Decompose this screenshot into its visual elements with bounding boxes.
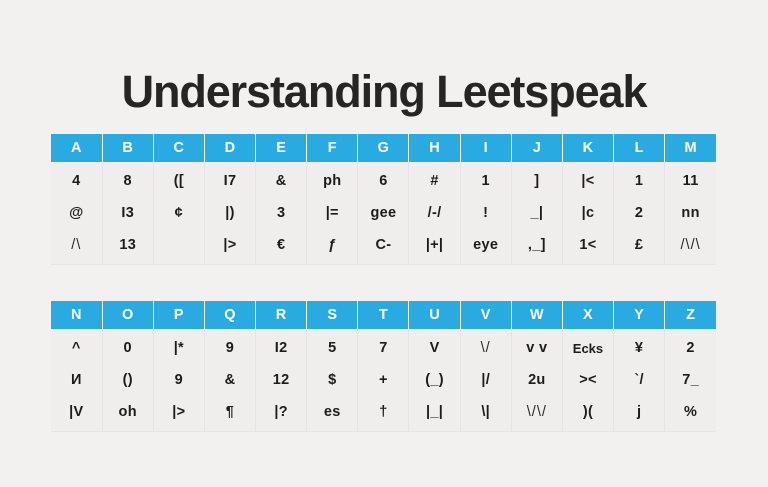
leet-cell-h-3: |+|	[409, 230, 460, 264]
leet-cell-b-1: 8	[102, 162, 153, 196]
leet-cell-u-2: (_)	[409, 363, 460, 397]
column-header-o: O	[102, 301, 153, 329]
leet-cell-n-2: И	[51, 363, 102, 397]
leet-cell-c-2: ¢	[153, 196, 204, 230]
leet-cell-e-3: €	[256, 230, 307, 264]
leet-cell-l-2: 2	[614, 196, 665, 230]
leet-cell-v-1: \/	[460, 329, 511, 363]
column-header-i: I	[460, 134, 511, 162]
leet-cell-u-3: |_|	[409, 397, 460, 431]
leet-cell-z-3: %	[665, 397, 716, 431]
leet-cell-t-1: 7	[358, 329, 409, 363]
leet-cell-w-2: 2u	[511, 363, 562, 397]
column-header-x: X	[562, 301, 613, 329]
column-header-v: V	[460, 301, 511, 329]
leet-cell-v-3: \|	[460, 397, 511, 431]
leet-cell-h-2: /-/	[409, 196, 460, 230]
leetspeak-table-n-z: NOPQRSTUVWXYZ ^0|*9I257V\/v vEcks¥2И()9&…	[51, 301, 716, 432]
column-header-y: Y	[614, 301, 665, 329]
leet-cell-d-1: I7	[204, 162, 255, 196]
column-header-m: M	[665, 134, 716, 162]
leet-cell-m-2: nn	[665, 196, 716, 230]
leet-cell-o-3: oh	[102, 397, 153, 431]
leet-cell-j-3: ,_]	[511, 230, 562, 264]
column-header-p: P	[153, 301, 204, 329]
table-header-n-z: NOPQRSTUVWXYZ	[51, 301, 716, 329]
leet-cell-g-1: 6	[358, 162, 409, 196]
page-title: Understanding Leetspeak	[0, 66, 768, 118]
leet-cell-y-1: ¥	[614, 329, 665, 363]
table-row: И()9&12$+(_)|/2u><`/7_	[51, 363, 716, 397]
column-header-g: G	[358, 134, 409, 162]
column-header-b: B	[102, 134, 153, 162]
leet-cell-i-1: 1	[460, 162, 511, 196]
leet-cell-v-2: |/	[460, 363, 511, 397]
leet-cell-k-1: |<	[562, 162, 613, 196]
leet-cell-m-1: 11	[665, 162, 716, 196]
leet-cell-t-3: †	[358, 397, 409, 431]
leet-cell-i-3: eye	[460, 230, 511, 264]
leet-cell-i-2: !	[460, 196, 511, 230]
leet-cell-q-3: ¶	[204, 397, 255, 431]
column-header-d: D	[204, 134, 255, 162]
leet-cell-z-1: 2	[665, 329, 716, 363]
leet-cell-r-3: |?	[256, 397, 307, 431]
table-row: @I3¢|)3|=gee/-/!_||c2nn	[51, 196, 716, 230]
leet-cell-y-2: `/	[614, 363, 665, 397]
header-row: NOPQRSTUVWXYZ	[51, 301, 716, 329]
leet-cell-p-3: |>	[153, 397, 204, 431]
leet-cell-b-3: 13	[102, 230, 153, 264]
leet-cell-p-2: 9	[153, 363, 204, 397]
column-header-l: L	[614, 134, 665, 162]
column-header-z: Z	[665, 301, 716, 329]
column-header-e: E	[256, 134, 307, 162]
leet-cell-y-3: j	[614, 397, 665, 431]
column-header-r: R	[256, 301, 307, 329]
leet-cell-s-3: es	[307, 397, 358, 431]
column-header-t: T	[358, 301, 409, 329]
column-header-s: S	[307, 301, 358, 329]
leet-cell-m-3: /\/\	[665, 230, 716, 264]
leet-cell-l-3: £	[614, 230, 665, 264]
leetspeak-table-a-m: ABCDEFGHIJKLM 48([I7&ph6#1]|<111@I3¢|)3|…	[51, 134, 716, 265]
leet-cell-d-2: |)	[204, 196, 255, 230]
leet-cell-k-3: 1<	[562, 230, 613, 264]
leet-cell-r-1: I2	[256, 329, 307, 363]
column-header-h: H	[409, 134, 460, 162]
leet-cell-b-2: I3	[102, 196, 153, 230]
leet-cell-q-1: 9	[204, 329, 255, 363]
leet-cell-e-1: &	[256, 162, 307, 196]
leet-cell-j-1: ]	[511, 162, 562, 196]
column-header-j: J	[511, 134, 562, 162]
table-row: |Voh|>¶|?es†|_|\|\/\/)(j%	[51, 397, 716, 431]
leet-cell-k-2: |c	[562, 196, 613, 230]
leet-cell-t-2: +	[358, 363, 409, 397]
leet-cell-o-1: 0	[102, 329, 153, 363]
leet-cell-f-1: ph	[307, 162, 358, 196]
table-row: ^0|*9I257V\/v vEcks¥2	[51, 329, 716, 363]
leet-cell-l-1: 1	[614, 162, 665, 196]
column-header-f: F	[307, 134, 358, 162]
leet-cell-g-3: C-	[358, 230, 409, 264]
leet-cell-a-2: @	[51, 196, 102, 230]
leet-cell-w-1: v v	[511, 329, 562, 363]
leet-cell-s-1: 5	[307, 329, 358, 363]
leet-cell-x-2: ><	[562, 363, 613, 397]
column-header-w: W	[511, 301, 562, 329]
column-header-k: K	[562, 134, 613, 162]
leet-cell-a-3: /\	[51, 230, 102, 264]
leet-cell-o-2: ()	[102, 363, 153, 397]
column-header-u: U	[409, 301, 460, 329]
column-header-n: N	[51, 301, 102, 329]
leet-cell-x-3: )(	[562, 397, 613, 431]
leet-cell-f-3: ƒ	[307, 230, 358, 264]
leet-cell-n-3: |V	[51, 397, 102, 431]
leet-cell-w-3: \/\/	[511, 397, 562, 431]
leet-cell-h-1: #	[409, 162, 460, 196]
leet-cell-g-2: gee	[358, 196, 409, 230]
table-body-a-m: 48([I7&ph6#1]|<111@I3¢|)3|=gee/-/!_||c2n…	[51, 162, 716, 264]
leet-cell-a-1: 4	[51, 162, 102, 196]
leetspeak-infographic: Understanding Leetspeak ABCDEFGHIJKLM 48…	[0, 0, 768, 487]
leet-cell-n-1: ^	[51, 329, 102, 363]
leet-cell-q-2: &	[204, 363, 255, 397]
leet-cell-p-1: |*	[153, 329, 204, 363]
leet-cell-x-1: Ecks	[562, 329, 613, 363]
leet-cell-d-3: |>	[204, 230, 255, 264]
table-row: /\13|>€ƒC-|+|eye,_]1<£/\/\	[51, 230, 716, 264]
table-header-a-m: ABCDEFGHIJKLM	[51, 134, 716, 162]
leet-cell-s-2: $	[307, 363, 358, 397]
leet-cell-z-2: 7_	[665, 363, 716, 397]
leet-cell-u-1: V	[409, 329, 460, 363]
header-row: ABCDEFGHIJKLM	[51, 134, 716, 162]
leet-cell-j-2: _|	[511, 196, 562, 230]
leet-cell-f-2: |=	[307, 196, 358, 230]
column-header-a: A	[51, 134, 102, 162]
leet-cell-c-3	[153, 230, 204, 264]
leet-cell-r-2: 12	[256, 363, 307, 397]
leet-cell-e-2: 3	[256, 196, 307, 230]
leet-cell-c-1: ([	[153, 162, 204, 196]
table-row: 48([I7&ph6#1]|<111	[51, 162, 716, 196]
table-body-n-z: ^0|*9I257V\/v vEcks¥2И()9&12$+(_)|/2u><`…	[51, 329, 716, 431]
column-header-c: C	[153, 134, 204, 162]
column-header-q: Q	[204, 301, 255, 329]
